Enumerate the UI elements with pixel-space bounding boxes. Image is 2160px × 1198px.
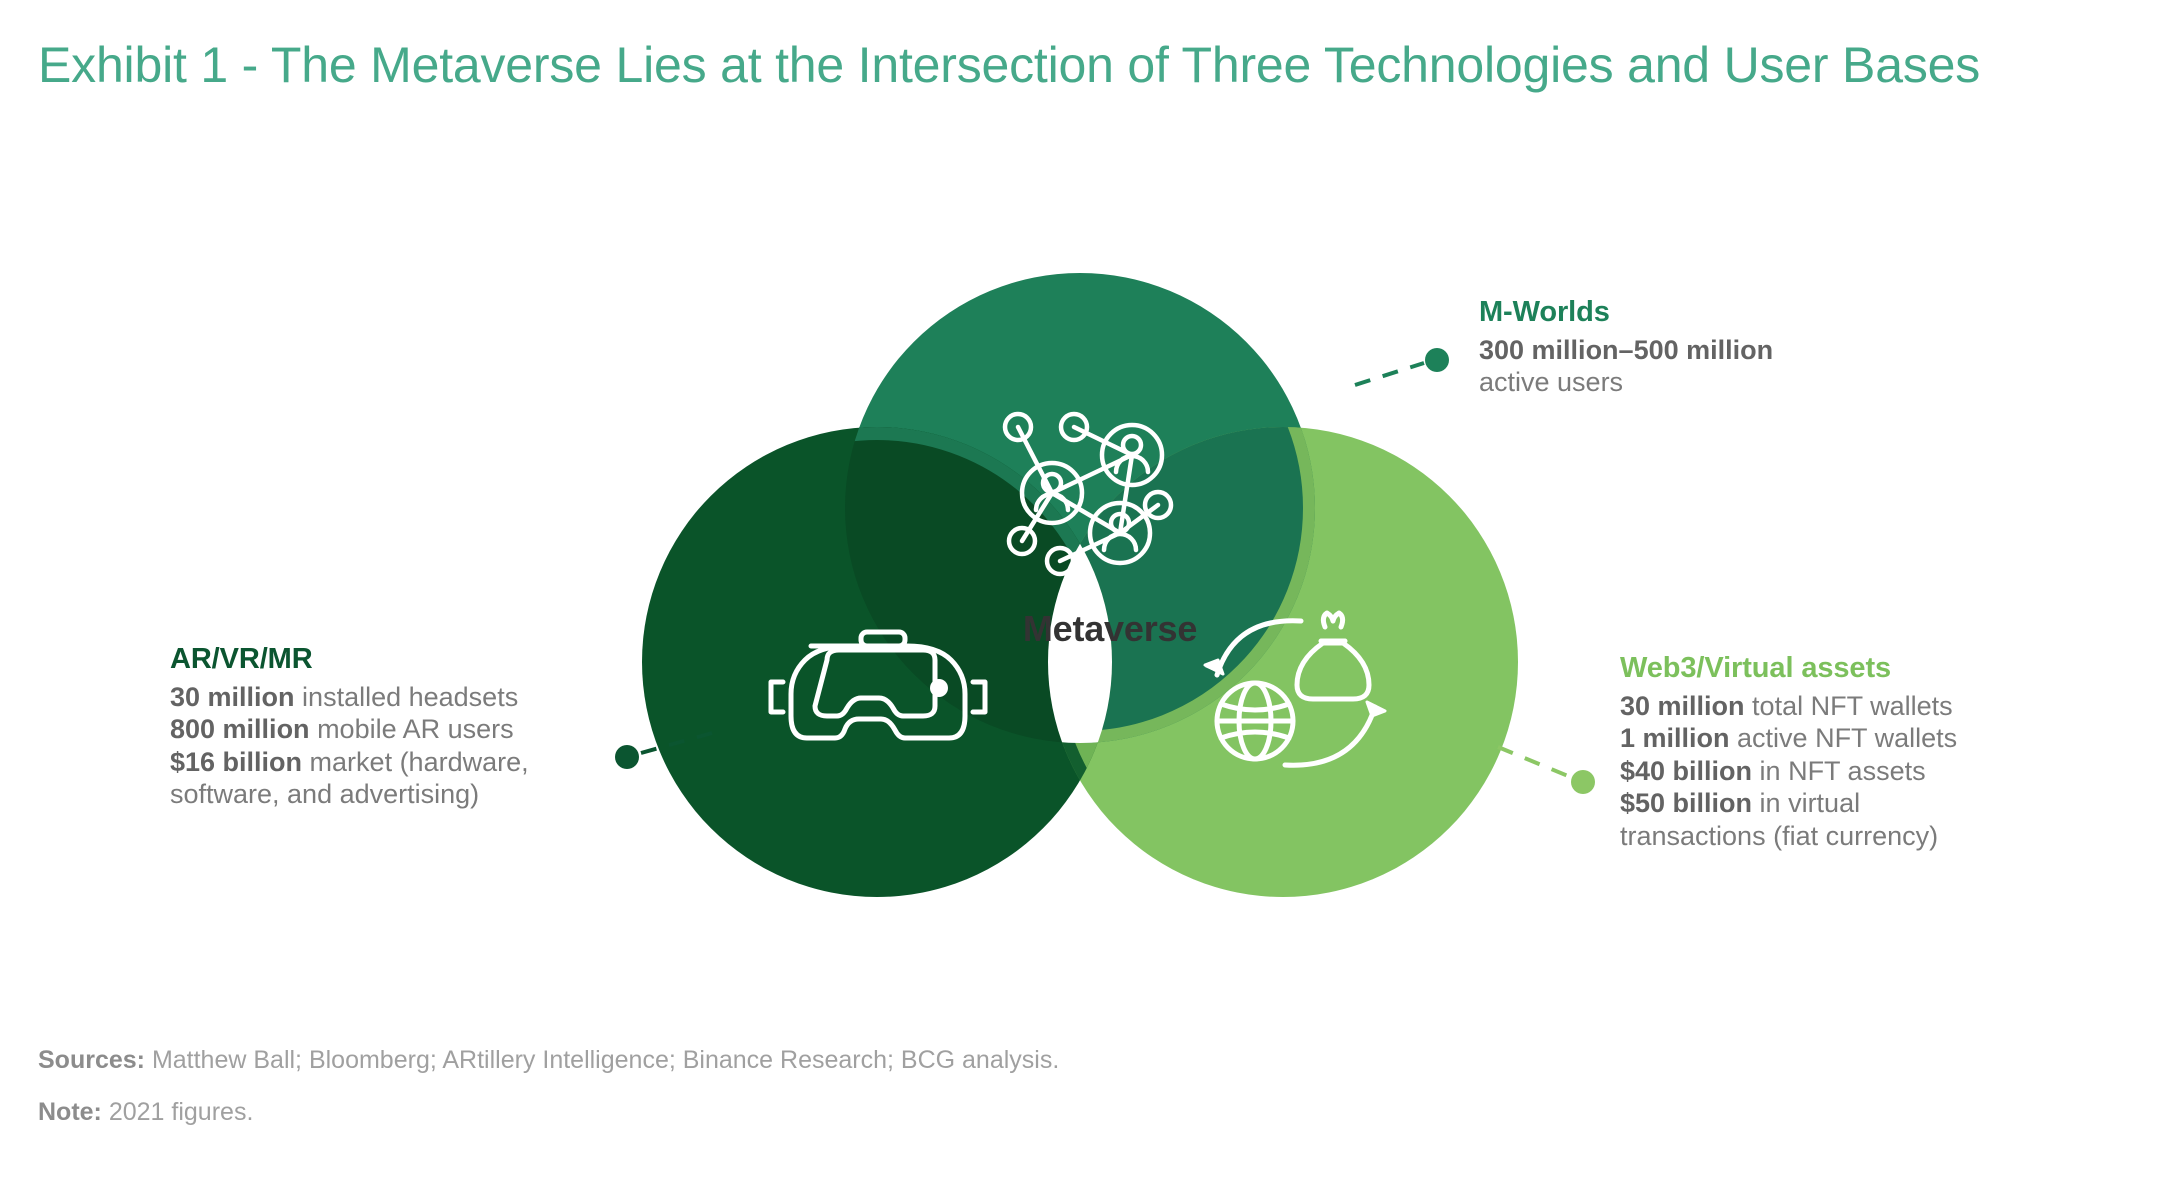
venn-diagram [630,195,1530,975]
callout-line: transactions (fiat currency) [1620,820,2090,852]
callout-title-ar-vr-mr: AR/VR/MR [170,643,640,676]
callout-title-web3: Web3/Virtual assets [1620,652,2090,685]
leader-dot-web3 [1571,770,1595,794]
footer-note: Note: 2021 figures. [38,1097,1938,1127]
venn-center-label: Metaverse [1000,608,1220,650]
callout-line: $16 billion market (hardware, [170,746,640,778]
footer-note-label: Note: [38,1098,102,1126]
footer-sources: Sources: Matthew Ball; Bloomberg; ARtill… [38,1045,1938,1075]
callout-line: 800 million mobile AR users [170,713,640,745]
callout-line: $50 billion in virtual [1620,787,2090,819]
callout-m-worlds: M-Worlds 300 million–500 million active … [1479,296,1919,399]
callout-line: software, and advertising) [170,778,640,810]
callout-line: $40 billion in NFT assets [1620,755,2090,787]
footer: Sources: Matthew Ball; Bloomberg; ARtill… [38,1045,1938,1149]
callout-title-m-worlds: M-Worlds [1479,296,1919,329]
page-title: Exhibit 1 - The Metaverse Lies at the In… [38,36,2098,94]
callout-ar-vr-mr: AR/VR/MR 30 million installed headsets 8… [170,643,640,811]
callout-line: 1 million active NFT wallets [1620,722,2090,754]
callout-line: 30 million total NFT wallets [1620,690,2090,722]
footer-sources-text: Matthew Ball; Bloomberg; ARtillery Intel… [152,1046,1059,1074]
callout-line: active users [1479,366,1919,398]
footer-sources-label: Sources: [38,1046,145,1074]
callout-line: 30 million installed headsets [170,681,640,713]
callout-web3-virtual-assets: Web3/Virtual assets 30 million total NFT… [1620,652,2090,852]
callout-line: 300 million–500 million [1479,334,1919,366]
footer-note-text: 2021 figures. [109,1098,254,1126]
